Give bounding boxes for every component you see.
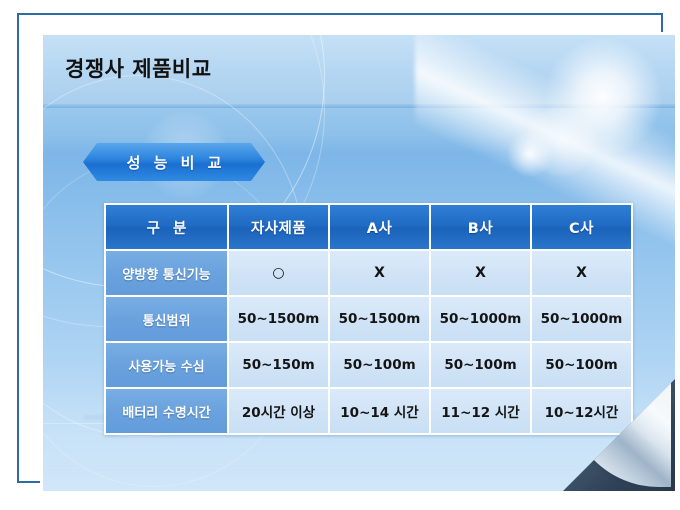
table-cell: ○ (228, 250, 329, 296)
slide-inner-border: 경쟁사 제품비교 성 능 비 교 (40, 32, 678, 494)
table-cell: 50~150m (228, 342, 329, 388)
table-row: 통신범위 50~1500m 50~1500m 50~1000m 50~1000m (105, 296, 632, 342)
slide-outer-border: 경쟁사 제품비교 성 능 비 교 (17, 13, 663, 483)
column-header-company-c: C사 (531, 204, 632, 250)
table-cell: 50~1000m (531, 296, 632, 342)
table-header-row: 구 분 자사제품 A사 B사 C사 (105, 204, 632, 250)
table-cell: 10~14 시간 (329, 388, 430, 434)
table-cell: X (329, 250, 430, 296)
table-cell: X (430, 250, 531, 296)
section-badge-label: 성 능 비 교 (83, 143, 265, 181)
table-cell: 10~12시간 (531, 388, 632, 434)
table-cell: 50~1500m (228, 296, 329, 342)
row-label: 사용가능 수심 (105, 342, 228, 388)
row-label: 통신범위 (105, 296, 228, 342)
row-label: 양방향 통신기능 (105, 250, 228, 296)
comparison-table-wrapper: 구 분 자사제품 A사 B사 C사 양방향 통신기능 ○ X X (104, 203, 631, 435)
table-row: 양방향 통신기능 ○ X X X (105, 250, 632, 296)
table-row: 배터리 수명시간 20시간 이상 10~14 시간 11~12 시간 10~12… (105, 388, 632, 434)
section-badge: 성 능 비 교 (83, 143, 265, 181)
page-title: 경쟁사 제품비교 (65, 53, 212, 83)
column-header-company-b: B사 (430, 204, 531, 250)
column-header-company-a: A사 (329, 204, 430, 250)
table-cell: 50~100m (329, 342, 430, 388)
table-cell: 50~1000m (430, 296, 531, 342)
comparison-table: 구 분 자사제품 A사 B사 C사 양방향 통신기능 ○ X X (104, 203, 633, 435)
table-cell: X (531, 250, 632, 296)
table-cell: 50~100m (430, 342, 531, 388)
row-label: 배터리 수명시간 (105, 388, 228, 434)
table-cell: 20시간 이상 (228, 388, 329, 434)
table-cell: 11~12 시간 (430, 388, 531, 434)
column-header-own-product: 자사제품 (228, 204, 329, 250)
title-band-edge (43, 104, 675, 108)
slide-root: 경쟁사 제품비교 성 능 비 교 (0, 0, 680, 510)
column-header-category: 구 분 (105, 204, 228, 250)
table-row: 사용가능 수심 50~150m 50~100m 50~100m 50~100m (105, 342, 632, 388)
table-cell: 50~100m (531, 342, 632, 388)
table-cell: 50~1500m (329, 296, 430, 342)
